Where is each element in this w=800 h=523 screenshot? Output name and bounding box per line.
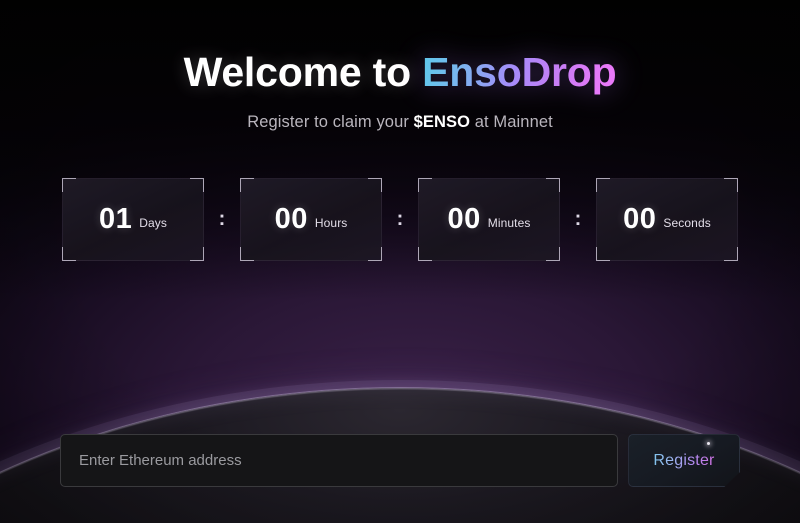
corner-brackets [241,179,381,260]
countdown-box: 00 Minutes [418,178,560,261]
countdown-timer: 01 Days : 00 Hours : 00 Minutes : 0 [0,178,800,261]
countdown-unit-minutes: 00 Minutes [418,178,560,261]
countdown-separator: : [382,178,418,261]
brand-name: EnsoDrop [422,49,616,95]
countdown-box: 01 Days [62,178,204,261]
ethereum-address-input[interactable] [60,434,618,487]
airdrop-landing-page: Welcome to EnsoDrop Register to claim yo… [0,0,800,523]
countdown-box: 00 Hours [240,178,382,261]
sparkle-icon [707,442,710,445]
subtitle-text-after: at Mainnet [470,113,553,131]
countdown-separator: : [560,178,596,261]
countdown-unit-days: 01 Days [62,178,204,261]
countdown-separator: : [204,178,240,261]
token-symbol: $ENSO [414,113,470,131]
corner-brackets [63,179,203,260]
page-header: Welcome to EnsoDrop Register to claim yo… [0,50,800,132]
registration-form: Register [60,434,740,487]
register-button[interactable]: Register [628,434,740,487]
subtitle-text-before: Register to claim your [247,113,413,131]
countdown-box: 00 Seconds [596,178,738,261]
page-title-prefix: Welcome to [184,49,423,95]
corner-brackets [597,179,737,260]
page-title: Welcome to EnsoDrop [0,50,800,96]
register-button-label: Register [653,452,714,470]
countdown-unit-hours: 00 Hours [240,178,382,261]
countdown-unit-seconds: 00 Seconds [596,178,738,261]
corner-brackets [419,179,559,260]
page-subtitle: Register to claim your $ENSO at Mainnet [0,113,800,132]
